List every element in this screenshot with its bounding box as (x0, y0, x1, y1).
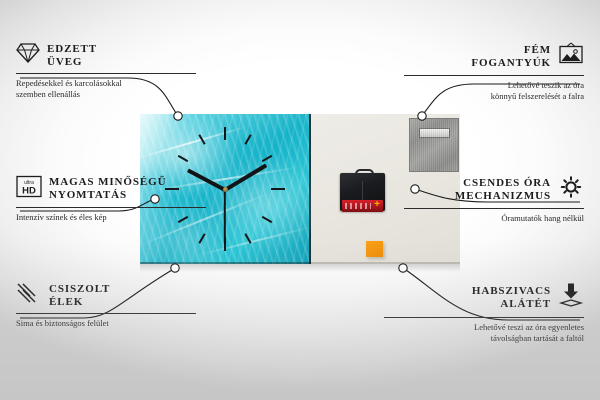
feature-title-line1: FÉM (524, 44, 551, 56)
feature-title-line2: ÉLEK (49, 296, 83, 308)
feature-desc-line1: Lehetővé teszi az óra egyenletes (474, 322, 584, 332)
divider (404, 208, 584, 209)
feature-title-line2: ALÁTÉT (500, 298, 551, 310)
diamond-icon (16, 42, 40, 69)
infographic-stage: EDZETT ÜVEG Repedésekkel és karcolásokka… (0, 0, 600, 400)
diagonal-lines-icon (16, 282, 42, 309)
callout-high-quality-print: ultra HD MAGAS MINŐSÉGŰ NYOMTATÁS Intenz… (16, 175, 206, 223)
battery-label (342, 200, 383, 212)
feature-desc-line2: szemben ellenállás (16, 89, 80, 99)
callout-silent-mechanism: CSENDES ÓRA MECHANIZMUS Óramutatók hang … (404, 175, 584, 224)
mechanism-seam (362, 181, 363, 201)
arrow-down-pad-icon (558, 282, 584, 313)
feature-desc-line1: Óramutatók hang nélkül (501, 213, 584, 223)
hour-tick (244, 233, 251, 244)
callout-polished-edges: CSISZOLT ÉLEK Sima és biztonságos felüle… (16, 282, 196, 329)
ultra-hd-icon: ultra HD (16, 175, 42, 203)
feature-desc-line2: távolságban tartását a faltól (491, 333, 584, 343)
divider (404, 75, 584, 76)
hour-tick (224, 127, 226, 140)
feature-title-line2: MECHANIZMUS (455, 190, 551, 202)
hour-tick (244, 134, 251, 145)
hour-tick (271, 188, 285, 190)
metal-hanger (409, 118, 459, 172)
battery-stripes (345, 203, 371, 209)
hour-tick (262, 155, 273, 162)
divider (16, 313, 196, 314)
feature-desc-line1: Intenzív színek és éles kép (16, 212, 107, 222)
hour-tick (262, 216, 273, 223)
product-shadow (140, 264, 460, 272)
callout-metal-handles: FÉM FOGANTYÚK Lehetővé teszik az óra kön… (404, 42, 584, 102)
feature-title-line1: CSISZOLT (49, 283, 110, 295)
clock-pivot (223, 187, 228, 192)
feature-desc-line2: könnyű felszerelését a falra (491, 91, 584, 101)
callout-tempered-glass: EDZETT ÜVEG Repedésekkel és karcolásokka… (16, 42, 196, 100)
minute-hand (224, 163, 267, 191)
hour-tick (178, 155, 189, 162)
feature-desc-line1: Lehetővé teszik az óra (508, 80, 584, 90)
feature-title-line2: FOGANTYÚK (471, 57, 551, 69)
divider (384, 317, 584, 318)
feature-title-line1: CSENDES ÓRA (463, 177, 551, 189)
callout-foam-pad: HABSZIVACS ALÁTÉT Lehetővé teszi az óra … (384, 282, 584, 344)
feature-title-line1: MAGAS MINŐSÉGŰ (49, 176, 166, 188)
divider (16, 207, 206, 208)
feature-title-line1: HABSZIVACS (472, 285, 551, 297)
feature-title-line2: NYOMTATÁS (49, 189, 127, 201)
hour-tick (198, 233, 205, 244)
divider (16, 73, 196, 74)
feature-desc-line1: Repedésekkel és karcolásokkal (16, 78, 122, 88)
svg-text:HD: HD (22, 186, 36, 197)
second-hand (224, 189, 226, 243)
foam-pad (366, 241, 383, 257)
clock-mechanism (340, 169, 385, 211)
gear-icon (558, 175, 584, 204)
hour-tick (198, 134, 205, 145)
mechanism-body (340, 173, 385, 211)
feature-title-line1: EDZETT (47, 43, 97, 55)
feature-desc-line1: Sima és biztonságos felület (16, 318, 109, 328)
feature-title-line2: ÜVEG (47, 56, 82, 68)
framed-picture-icon (558, 42, 584, 71)
